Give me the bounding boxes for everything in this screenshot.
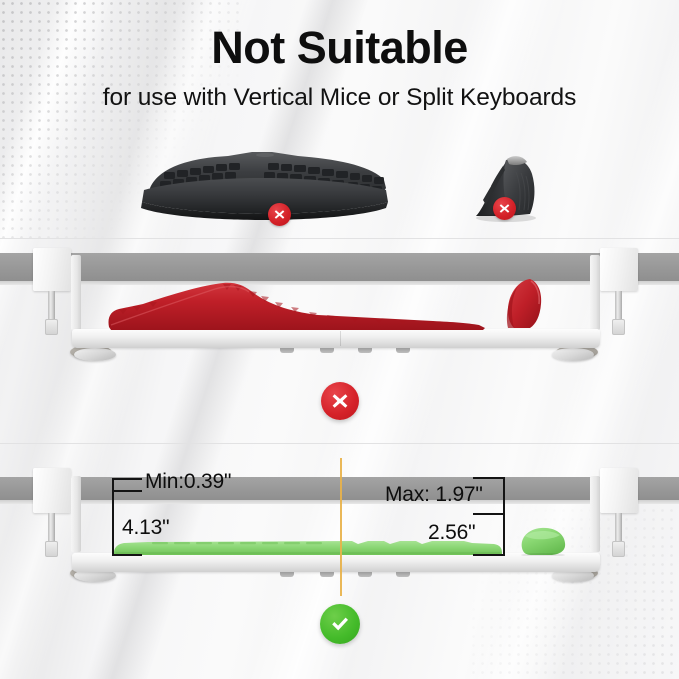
green-standard-mouse-side [516, 526, 568, 556]
clamp-foot-cap-left-incompatible [74, 348, 116, 361]
tray-seam-incompatible [340, 331, 341, 346]
dim-tick-max-bottom [473, 513, 504, 515]
dim-tick-max-top [473, 477, 504, 479]
tray-foot-4-compatible [396, 572, 410, 577]
dim-label-desk-thickness-min: Min:0.39" [145, 470, 231, 494]
dim-line-max-thickness [503, 477, 505, 515]
x-mark-icon-mouse [493, 197, 516, 220]
center-alignment-guide [340, 458, 342, 596]
tray-foot-3-incompatible [358, 348, 372, 353]
clamp-foot-cap-right-incompatible [552, 348, 594, 361]
tray-foot-4-incompatible [396, 348, 410, 353]
clamp-screw-right-incompatible [615, 291, 622, 321]
clamp-pad-right-compatible [612, 541, 625, 557]
clamp-arm-left-incompatible [71, 255, 81, 330]
clamp-block-left-compatible [33, 468, 71, 513]
tray-foot-1-incompatible [280, 348, 294, 353]
page-title: Not Suitable [0, 24, 679, 73]
verdict-x-mark-icon [321, 382, 359, 420]
tray-foot-1-compatible [280, 572, 294, 577]
clamp-block-left-incompatible [33, 248, 71, 291]
dim-label-total-clearance: 4.13" [122, 516, 169, 540]
dim-tick-total-top [112, 478, 142, 480]
clamp-pad-left-incompatible [45, 319, 58, 335]
tray-foot-2-compatible [320, 572, 334, 577]
verdict-check-mark-icon [320, 604, 360, 644]
dim-tick-total-bottom [112, 554, 142, 556]
dim-tick-min-thickness [112, 490, 142, 492]
x-mark-icon-keyboard [268, 203, 291, 226]
red-vertical-mouse-side [500, 278, 550, 330]
clamp-block-right-compatible [600, 468, 638, 513]
dim-tick-under-bottom [473, 554, 504, 556]
keyboard-tray-incompatible [72, 329, 600, 348]
clamp-screw-right-compatible [615, 513, 622, 543]
dim-label-desk-thickness-max: Max: 1.97" [385, 483, 483, 507]
clamp-screw-left-incompatible [48, 291, 55, 321]
split-ergonomic-keyboard-photo [132, 148, 394, 220]
desk-surface-band-incompatible [0, 253, 679, 281]
dim-label-under-desk-clearance: 2.56" [428, 521, 475, 545]
product-infographic: Not Suitable for use with Vertical Mice … [0, 0, 679, 679]
tray-foot-3-compatible [358, 572, 372, 577]
clamp-pad-right-incompatible [612, 319, 625, 335]
clamp-pad-left-compatible [45, 541, 58, 557]
scene-divider-bottom [0, 443, 679, 444]
red-split-keyboard-side [103, 281, 493, 331]
dim-line-under-desk-clearance [503, 513, 505, 556]
clamp-screw-left-compatible [48, 513, 55, 543]
clamp-arm-right-compatible [590, 476, 600, 552]
page-subtitle: for use with Vertical Mice or Split Keyb… [0, 84, 679, 112]
tray-foot-2-incompatible [320, 348, 334, 353]
clamp-block-right-incompatible [600, 248, 638, 291]
clamp-arm-right-incompatible [590, 255, 600, 330]
clamp-arm-left-compatible [71, 476, 81, 552]
scene-divider-top [0, 238, 679, 239]
